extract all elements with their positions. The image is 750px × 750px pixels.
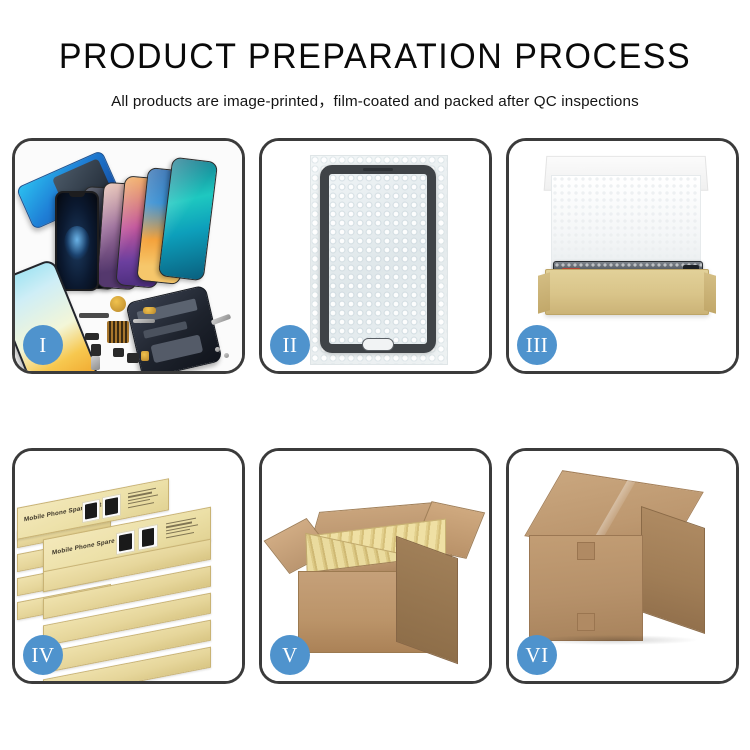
part-vibrator-icon [141,351,149,361]
header: PRODUCT PREPARATION PROCESS All products… [0,0,750,111]
kraft-box-tray-icon [545,269,709,315]
box-spec-lines-a [128,487,160,510]
step-1-badge: I [23,325,63,365]
box-thumb-b-icon [102,494,121,520]
part-gold-contact-icon [143,307,156,314]
step-5-image: V [262,451,489,681]
process-step-3[interactable]: III [506,138,739,374]
step-2-image: II [262,141,489,371]
step-1-image: I [15,141,242,371]
part-flex-strip-icon [79,313,109,318]
part-connector-grid-icon [107,321,129,343]
carton-shadow [533,635,697,645]
box-spec-lines-b [166,517,200,540]
part-chip-c-icon [113,348,124,357]
phone-front-glass-icon [55,191,99,291]
process-step-5[interactable]: V [259,448,492,684]
part-sim-tray-icon [91,356,100,370]
step-6-badge: VI [517,635,557,675]
sealed-carton-front-icon [529,535,643,641]
product-preparation-infographic: PRODUCT PREPARATION PROCESS All products… [0,0,750,750]
sealed-carton-side-icon [641,506,705,634]
step-6-image: VI [509,451,736,681]
part-screw-a-icon [215,347,220,352]
box-thumb-a-icon [82,499,100,523]
step-4-image: Mobile Phone Spare Parts Mobile Phone Sp… [15,451,242,681]
step-2-badge: II [270,325,310,365]
box-thumb-d-icon [138,524,158,551]
process-step-6[interactable]: VI [506,448,739,684]
part-speaker-icon [127,353,139,363]
process-steps-grid: I II [12,138,738,684]
step-4-badge: IV [23,635,63,675]
page-title: PRODUCT PREPARATION PROCESS [11,0,739,77]
process-step-2[interactable]: II [259,138,492,374]
step-3-badge: III [517,325,557,365]
part-screw-b-icon [224,353,229,358]
part-chip-b-icon [91,344,101,356]
step-5-badge: V [270,635,310,675]
part-chip-a-icon [85,333,99,340]
part-ribbon-icon [133,319,155,323]
carton-side-face-icon [396,536,458,665]
page-subtitle: All products are image-printed，film-coat… [0,77,750,111]
box-thumb-c-icon [116,529,135,555]
part-camera-lens-icon [110,296,126,312]
step-3-image: III [509,141,736,371]
process-step-1[interactable]: I [12,138,245,374]
process-step-4[interactable]: Mobile Phone Spare Parts Mobile Phone Sp… [12,448,245,684]
wrapped-screen-icon [320,165,436,353]
